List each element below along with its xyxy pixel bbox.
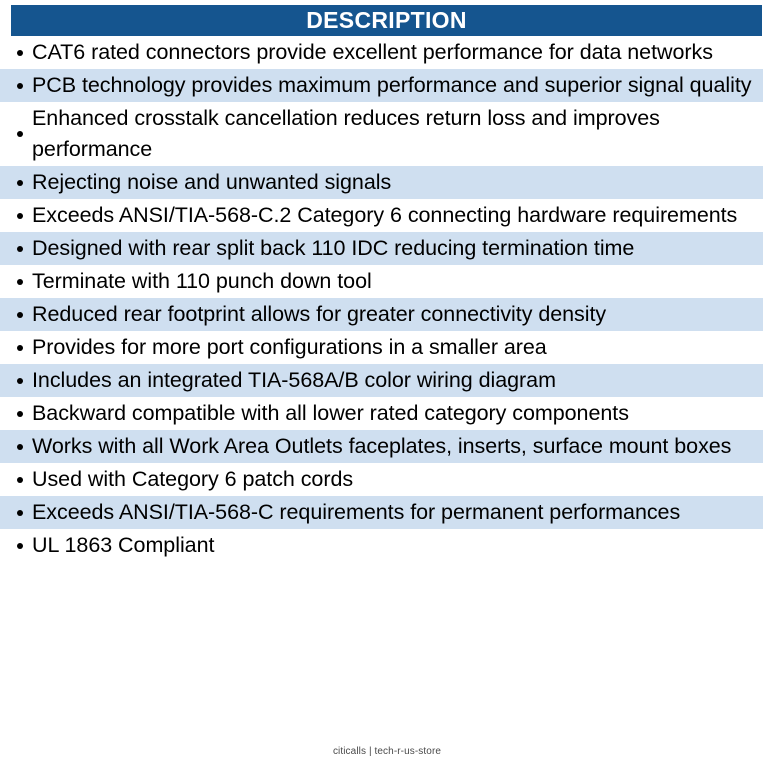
bullet-icon [17,279,23,285]
list-item: UL 1863 Compliant [0,529,763,562]
list-item-label: Terminate with 110 punch down tool [32,266,753,297]
bullet-icon [17,510,23,516]
list-item: Works with all Work Area Outlets facepla… [0,430,763,463]
list-item: CAT6 rated connectors provide excellent … [0,36,763,69]
bullet-icon [17,312,23,318]
bullet-icon [17,543,23,549]
bullet-icon [17,477,23,483]
list-item: PCB technology provides maximum performa… [0,69,763,102]
bullet-icon [17,345,23,351]
list-item: Designed with rear split back 110 IDC re… [0,232,763,265]
bullet-icon [17,131,23,137]
list-item-label: Backward compatible with all lower rated… [32,398,753,429]
footer-credit: citicalls | tech-r-us-store [0,746,774,757]
list-item-label: Includes an integrated TIA-568A/B color … [32,365,753,396]
bullet-icon [17,246,23,252]
list-item-label: Reduced rear footprint allows for greate… [32,299,753,330]
list-item-label: Provides for more port configurations in… [32,332,753,363]
list-item-label: Enhanced crosstalk cancellation reduces … [32,103,753,165]
list-item: Backward compatible with all lower rated… [0,397,763,430]
bullet-icon [17,411,23,417]
bullet-icon [17,378,23,384]
list-item-label: Exceeds ANSI/TIA-568-C.2 Category 6 conn… [32,200,753,231]
description-panel: DESCRIPTION CAT6 rated connectors provid… [0,0,774,770]
list-item: Reduced rear footprint allows for greate… [0,298,763,331]
list-item-label: Rejecting noise and unwanted signals [32,167,753,198]
description-header-bar: DESCRIPTION [11,5,762,36]
bullet-icon [17,180,23,186]
bullet-icon [17,444,23,450]
feature-list: CAT6 rated connectors provide excellent … [0,36,774,562]
list-item-label: Exceeds ANSI/TIA-568-C requirements for … [32,497,753,528]
list-item: Exceeds ANSI/TIA-568-C.2 Category 6 conn… [0,199,763,232]
list-item: Exceeds ANSI/TIA-568-C requirements for … [0,496,763,529]
bullet-icon [17,213,23,219]
list-item-label: Used with Category 6 patch cords [32,464,753,495]
list-item: Enhanced crosstalk cancellation reduces … [0,102,763,166]
list-item: Used with Category 6 patch cords [0,463,763,496]
page-title: DESCRIPTION [306,9,466,32]
list-item: Rejecting noise and unwanted signals [0,166,763,199]
list-item: Includes an integrated TIA-568A/B color … [0,364,763,397]
list-item: Terminate with 110 punch down tool [0,265,763,298]
list-item: Provides for more port configurations in… [0,331,763,364]
list-item-label: UL 1863 Compliant [32,530,753,561]
bullet-icon [17,50,23,56]
list-item-label: CAT6 rated connectors provide excellent … [32,37,753,68]
list-item-label: PCB technology provides maximum performa… [32,70,753,101]
list-item-label: Works with all Work Area Outlets facepla… [32,431,753,462]
bullet-icon [17,83,23,89]
list-item-label: Designed with rear split back 110 IDC re… [32,233,753,264]
